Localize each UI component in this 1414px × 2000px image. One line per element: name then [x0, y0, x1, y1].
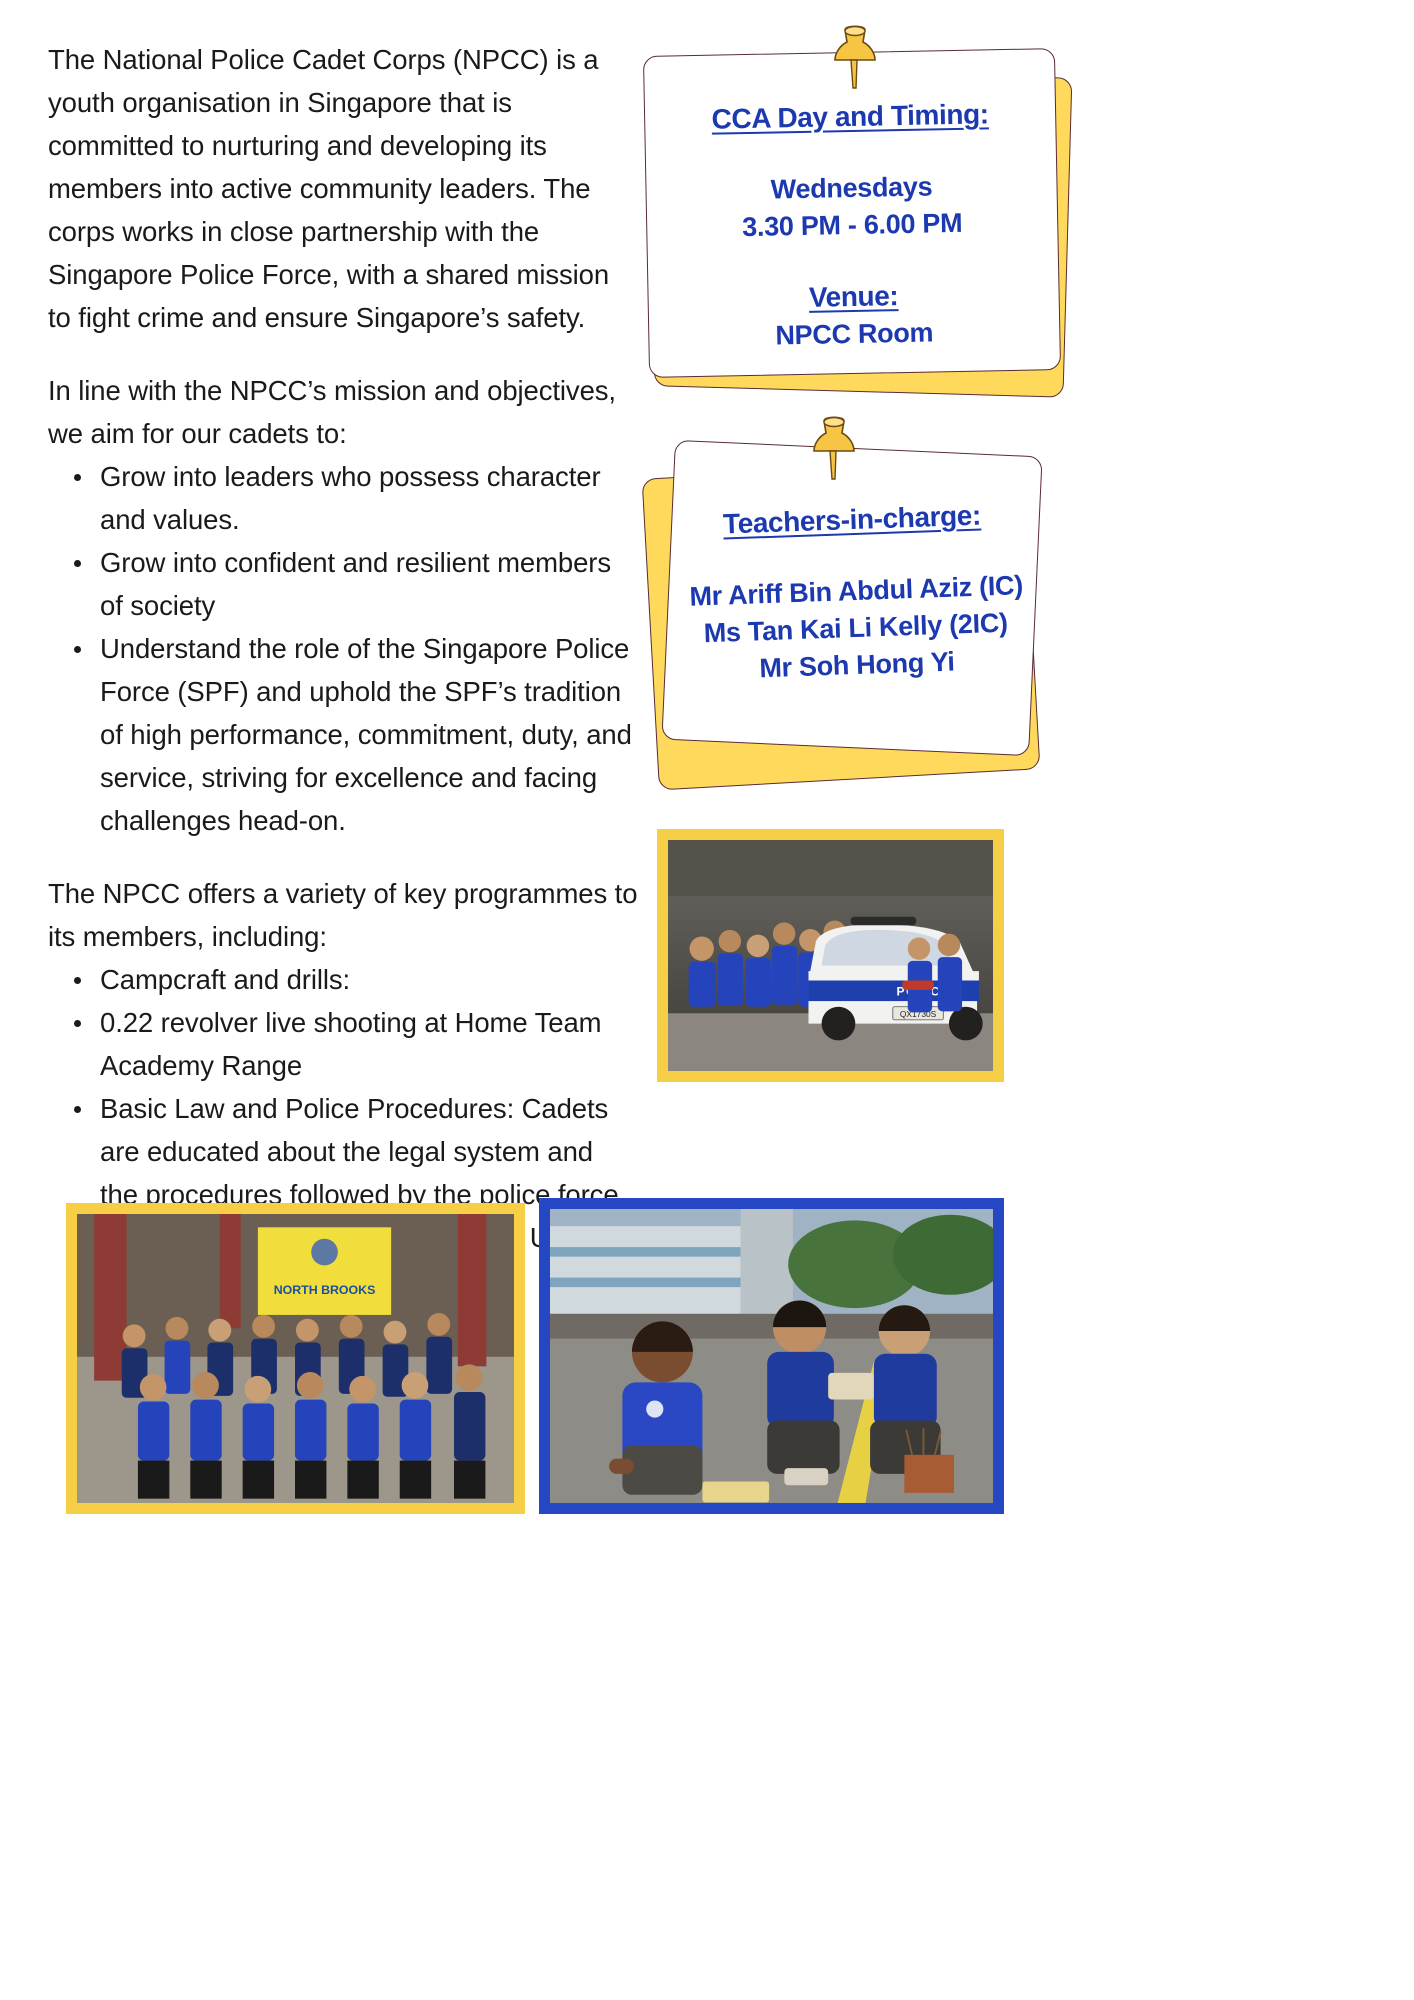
- teachers-info-card: Teachers-in-charge: Mr Ariff Bin Abdul A…: [661, 440, 1042, 756]
- list-item: Understand the role of the Singapore Pol…: [100, 627, 638, 842]
- intro-paragraph: The National Police Cadet Corps (NPCC) i…: [48, 38, 638, 339]
- photo-police-car: POLICE QX1730S: [657, 829, 1004, 1082]
- list-item: Grow into confident and resilient member…: [100, 541, 638, 627]
- pushpin-icon: [806, 413, 862, 485]
- photo-cadet-activity: [539, 1198, 1004, 1514]
- aims-list: Grow into leaders who possess character …: [48, 455, 638, 842]
- svg-text:NORTH BROOKS: NORTH BROOKS: [274, 1283, 376, 1297]
- police-car-photo-content: POLICE QX1730S: [668, 840, 993, 1077]
- programmes-lead-paragraph: The NPCC offers a variety of key program…: [48, 872, 638, 958]
- list-item: 0.22 revolver live shooting at Home Team…: [100, 1001, 638, 1087]
- cca-card-heading: CCA Day and Timing:: [671, 98, 1030, 137]
- photo-cadet-group: NORTH BROOKS: [66, 1203, 525, 1514]
- aims-lead-paragraph: In line with the NPCC’s mission and obje…: [48, 369, 638, 455]
- pushpin-icon: [827, 22, 883, 94]
- list-item: Basic Law and Police Procedures: Cadets …: [100, 1087, 638, 1216]
- list-item: Grow into leaders who possess character …: [100, 455, 638, 541]
- cca-card-body: CCA Day and Timing: Wednesdays 3.30 PM -…: [644, 49, 1060, 354]
- cca-info-card: CCA Day and Timing: Wednesdays 3.30 PM -…: [643, 48, 1061, 378]
- cadet-group-photo-content: NORTH BROOKS: [77, 1214, 514, 1510]
- cca-venue-value: NPCC Room: [675, 316, 1034, 354]
- cadet-activity-photo-content: [550, 1209, 993, 1510]
- list-item: Campcraft and drills:: [100, 958, 638, 1001]
